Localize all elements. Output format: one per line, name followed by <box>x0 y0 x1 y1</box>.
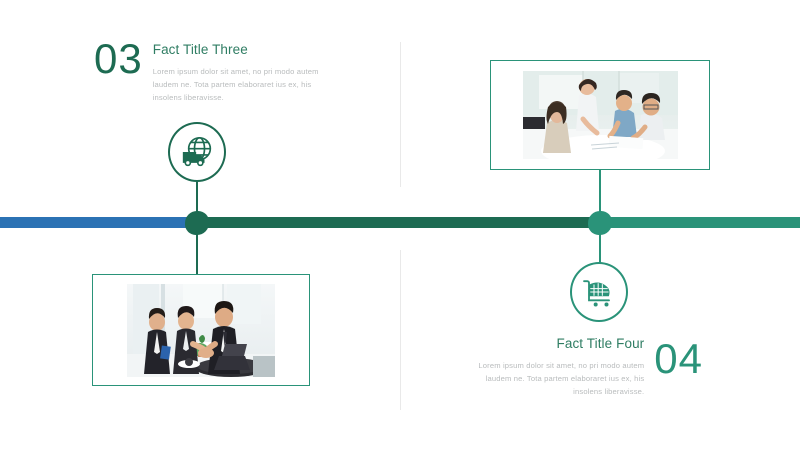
vertical-divider-top <box>400 42 401 187</box>
handshake <box>198 348 214 358</box>
photo-meeting <box>523 71 678 159</box>
fact-four-block: Fact Title Four Lorem ipsum dolor sit am… <box>468 336 703 398</box>
timeline-node-three[interactable] <box>185 211 209 235</box>
fact-three-title: Fact Title Three <box>153 42 334 57</box>
timeline-slide: 03 Fact Title Three Lorem ipsum dolor si… <box>0 0 800 450</box>
photo-frame-bottom-left[interactable] <box>92 274 310 386</box>
fact-four-number: 04 <box>654 338 703 380</box>
connector-right-up <box>599 163 601 218</box>
globe-truck-icon <box>177 132 217 172</box>
fact-four-title: Fact Title Four <box>468 336 644 351</box>
timeline-rail-light-green-segment <box>596 217 800 228</box>
vertical-divider-bottom <box>400 250 401 410</box>
fact-three-body: Lorem ipsum dolor sit amet, no pri modo … <box>153 65 334 104</box>
timeline-rail-dark-green-segment <box>190 217 602 228</box>
fact-three-block: 03 Fact Title Three Lorem ipsum dolor si… <box>94 36 334 104</box>
timeline-rail-blue-segment <box>0 217 198 228</box>
fact-four-body: Lorem ipsum dolor sit amet, no pri modo … <box>468 359 644 398</box>
shopping-cart-icon <box>579 272 619 312</box>
photo-frame-top-right[interactable] <box>490 60 710 170</box>
truck-glyph <box>183 152 205 165</box>
fact-four-icon-circle[interactable] <box>570 262 628 322</box>
timeline-node-four[interactable] <box>588 211 612 235</box>
fact-three-icon-circle[interactable] <box>168 122 226 182</box>
photo-handshake <box>127 284 275 377</box>
fact-three-number: 03 <box>94 38 143 80</box>
